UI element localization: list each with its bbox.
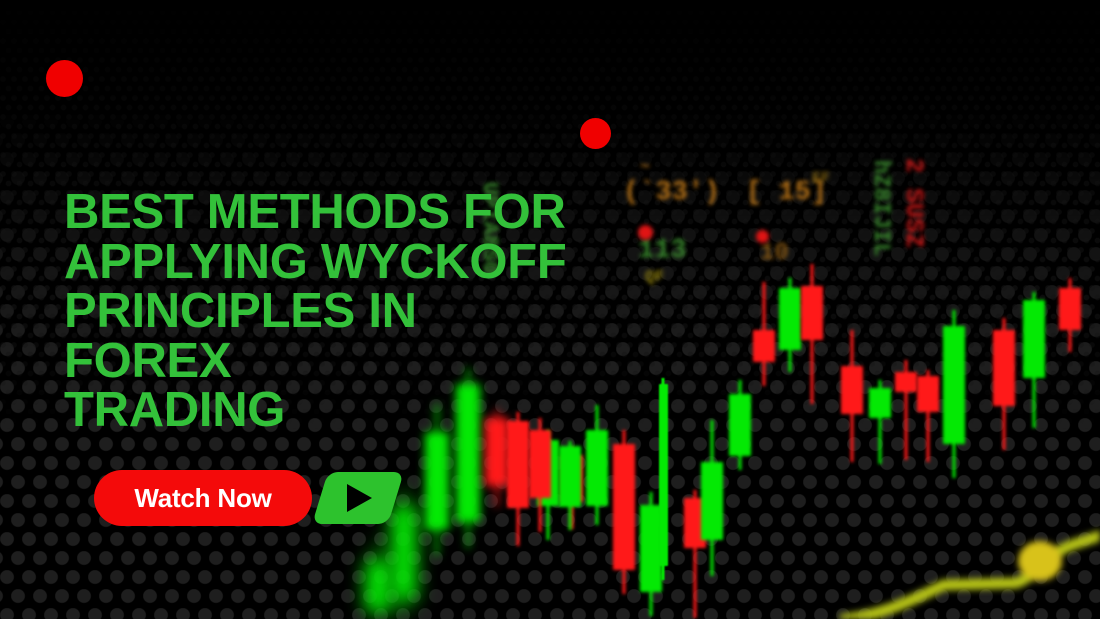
- candlestick-body: [753, 330, 775, 362]
- candlestick-body: [943, 326, 965, 444]
- candlestick-body: [869, 388, 891, 418]
- candlestick: [753, 282, 775, 386]
- candlestick: [943, 310, 965, 478]
- candlestick-body: [529, 430, 551, 498]
- headline-line-1: BEST METHODS FOR: [64, 188, 584, 238]
- page-title: BEST METHODS FOR APPLYING WYCKOFF PRINCI…: [64, 188, 584, 436]
- terminal-ghost-text: 2 SUSZ: [899, 158, 928, 248]
- terminal-ghost-text: EF: [812, 170, 830, 187]
- candlestick-body: [779, 288, 801, 350]
- candlestick-body: [1023, 300, 1045, 378]
- red-dot-top-left: [46, 60, 83, 97]
- candlestick: [1059, 278, 1081, 352]
- candlestick: [365, 538, 391, 619]
- candlestick: [701, 420, 723, 576]
- headline-line-4: TRADING: [64, 386, 584, 436]
- terminal-ghost-text: QF: [645, 268, 664, 286]
- candlestick-body: [1059, 288, 1081, 330]
- forex-video-thumbnail-banner: (`33')~113QF[ 15]10UPIA8S02 SUSZhZ8IJILE…: [0, 0, 1100, 619]
- terminal-ghost-dot: [756, 230, 769, 243]
- candlestick: [613, 430, 635, 594]
- terminal-ghost-dot: [638, 225, 653, 240]
- candlestick: [659, 378, 668, 580]
- terminal-ghost-text: hZ8IJIL: [868, 160, 894, 257]
- candlestick-body: [559, 446, 581, 507]
- watch-now-button[interactable]: Watch Now: [94, 470, 312, 526]
- play-triangle-icon: [347, 484, 372, 512]
- candlestick-body: [993, 330, 1015, 406]
- candlestick: [1023, 292, 1045, 428]
- candlestick: [993, 318, 1015, 450]
- terminal-ghost-text: 10: [760, 240, 789, 267]
- candlestick: [801, 264, 823, 404]
- candlestick-body: [801, 286, 823, 340]
- candlestick-body: [659, 384, 668, 566]
- headline-line-2: APPLYING WYCKOFF: [64, 238, 584, 288]
- candlestick: [559, 441, 581, 530]
- trend-line: [840, 509, 1100, 619]
- cta-row: Watch Now: [94, 470, 396, 526]
- candlestick-body: [729, 394, 751, 456]
- red-dot-upper-mid: [580, 118, 611, 149]
- candlestick-body: [917, 376, 939, 412]
- candlestick: [917, 370, 939, 462]
- terminal-ghost-text: 113: [638, 236, 687, 266]
- candlestick: [869, 380, 891, 464]
- candlestick: [841, 330, 863, 462]
- candlestick-body: [701, 462, 723, 540]
- candlestick: [779, 278, 801, 372]
- candlestick-body: [586, 430, 608, 506]
- candlestick: [895, 360, 917, 460]
- play-button-badge[interactable]: [320, 472, 396, 524]
- terminal-ghost-text: ~: [640, 158, 650, 177]
- terminal-ghost-text: (`33'): [623, 178, 720, 208]
- candlestick-body: [613, 444, 635, 570]
- candlestick: [729, 380, 751, 470]
- candlestick-body: [425, 432, 449, 530]
- candlestick: [586, 405, 608, 525]
- headline-line-3: PRINCIPLES IN FOREX: [64, 287, 584, 386]
- candlestick-body: [365, 560, 391, 612]
- candlestick-body: [895, 372, 917, 392]
- candlestick-body: [841, 366, 863, 414]
